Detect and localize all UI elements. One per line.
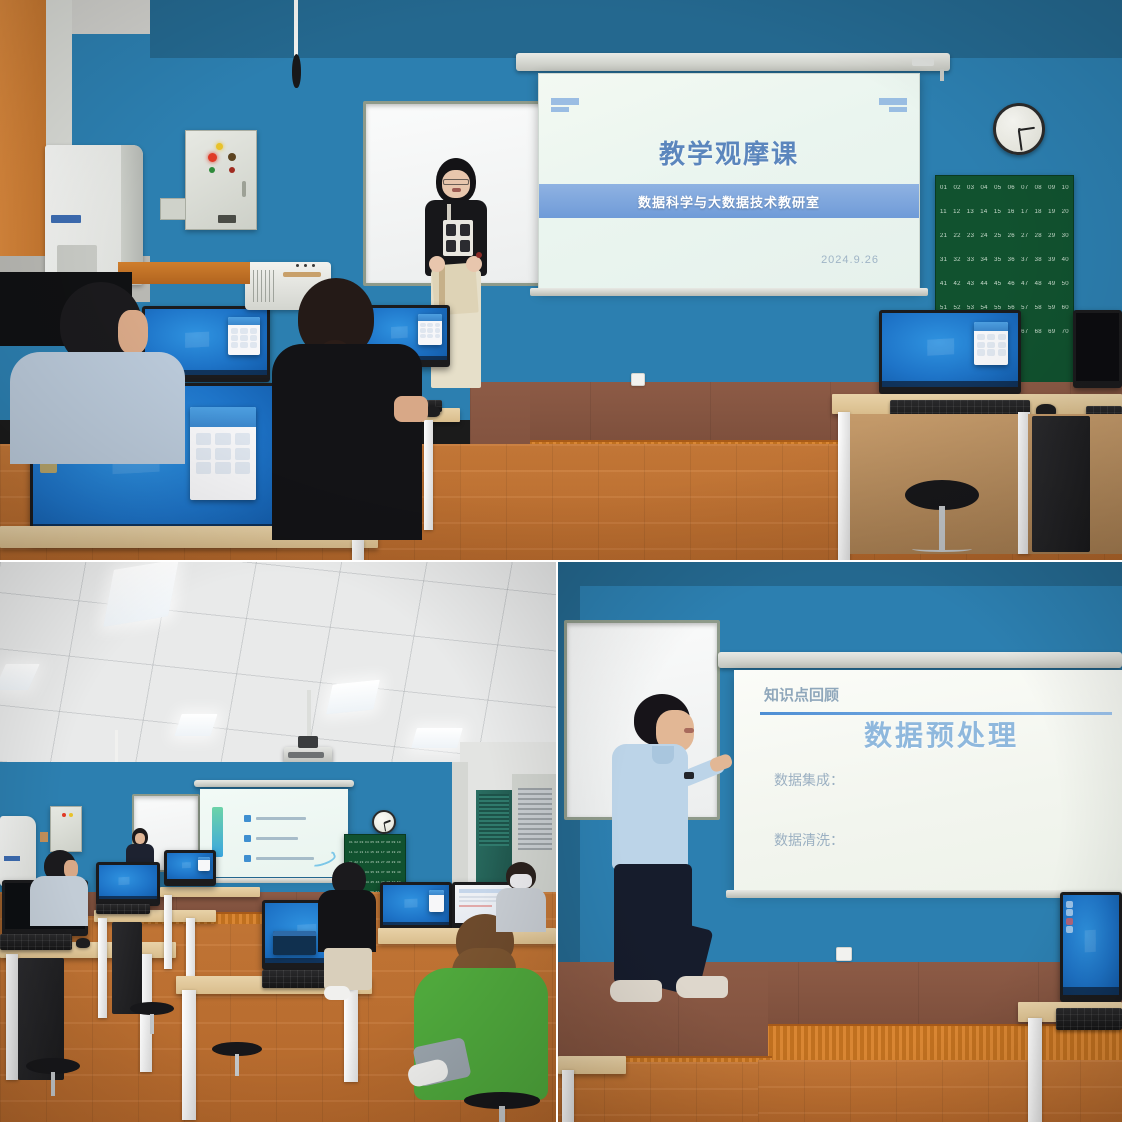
- student-masked: [496, 862, 546, 932]
- wall-socket: [631, 373, 645, 386]
- male-student: [10, 282, 185, 462]
- number-board-cell: 12: [354, 850, 358, 854]
- number-board-cell: 37: [381, 870, 385, 874]
- number-board-cell: 36: [1008, 257, 1015, 263]
- student-gray-shirt: [30, 850, 88, 922]
- number-board-row: 31323334353637383940: [936, 257, 1073, 263]
- number-board-cell: 35: [994, 257, 1001, 263]
- number-board-cell: 49: [1048, 281, 1055, 287]
- number-board-cell: 01: [940, 185, 947, 191]
- number-board-row: 01020304050607080910: [936, 185, 1073, 191]
- number-board-cell: 08: [386, 840, 390, 844]
- number-board-cell: 41: [940, 281, 947, 287]
- number-board-cell: 39: [392, 870, 396, 874]
- male-instructor: [598, 694, 728, 1004]
- ceiling-microphone: [292, 54, 301, 88]
- number-board-cell: 07: [1021, 185, 1028, 191]
- number-board-cell: 05: [994, 185, 1001, 191]
- number-board-cell: 03: [967, 185, 974, 191]
- number-board-cell: 34: [981, 257, 988, 263]
- number-board-cell: 29: [1048, 233, 1055, 239]
- number-board-cell: 26: [376, 860, 380, 864]
- keyboard[interactable]: [0, 934, 72, 950]
- slide-review-item: 数据清洗：: [774, 830, 844, 850]
- number-board-cell: 21: [940, 233, 947, 239]
- number-board-cell: 42: [954, 281, 961, 287]
- projection-slide-review: 知识点回顾 数据预处理 数据集成： 数据清洗：: [734, 670, 1122, 892]
- panel-divider-horizontal: [0, 560, 1122, 562]
- number-board-cell: 14: [980, 209, 987, 215]
- number-board-cell: 15: [994, 209, 1001, 215]
- panel-divider-vertical: [556, 562, 558, 1122]
- number-board-cell: 47: [1021, 281, 1028, 287]
- number-board-cell: 67: [1021, 329, 1028, 335]
- number-board-cell: 39: [1048, 257, 1055, 263]
- number-board-cell: 29: [392, 860, 396, 864]
- student-monitor[interactable]: [1060, 892, 1122, 1002]
- number-board-cell: 14: [365, 850, 369, 854]
- number-board-cell: 19: [392, 850, 396, 854]
- student-black-shirt: [314, 862, 376, 1002]
- photo-panel-bottom-left: 0102030405060708091011121314151617181920…: [0, 562, 556, 1122]
- number-board-cell: 68: [1035, 329, 1042, 335]
- number-board-cell: 58: [1035, 305, 1042, 311]
- number-board-cell: 17: [381, 850, 385, 854]
- number-board-cell: 23: [967, 233, 974, 239]
- number-board-cell: 31: [940, 257, 947, 263]
- number-board-cell: 12: [953, 209, 960, 215]
- number-board-cell: 43: [967, 281, 974, 287]
- number-board-cell: 07: [381, 840, 385, 844]
- number-board-cell: 36: [376, 870, 380, 874]
- number-board-cell: 38: [386, 870, 390, 874]
- number-board-cell: 17: [1021, 209, 1028, 215]
- number-board-cell: 15: [370, 850, 374, 854]
- stool[interactable]: [130, 1002, 174, 1034]
- number-board-cell: 24: [981, 233, 988, 239]
- number-board-cell: 33: [967, 257, 974, 263]
- slide-title-heading: 教学观摩课: [539, 134, 919, 171]
- number-board-cell: 45: [994, 281, 1001, 287]
- photo-collage: 教学观摩课 数据科学与大数据技术教研室 2024.9.26 0102030405…: [0, 0, 1122, 1122]
- number-board-cell: 50: [1062, 281, 1069, 287]
- photo-panel-bottom-right: 知识点回顾 数据预处理 数据集成： 数据清洗：: [558, 562, 1122, 1122]
- number-board-cell: 57: [1021, 305, 1028, 311]
- number-board-cell: 44: [981, 281, 988, 287]
- number-board-cell: 13: [360, 850, 364, 854]
- number-board-cell: 06: [1008, 185, 1015, 191]
- number-board-cell: 06: [376, 840, 380, 844]
- number-board-cell: 16: [1007, 209, 1014, 215]
- slide-department-label: 数据科学与大数据技术教研室: [638, 192, 820, 211]
- mouse[interactable]: [76, 938, 90, 948]
- slide-department-band: 数据科学与大数据技术教研室: [539, 184, 919, 218]
- teacher-monitor[interactable]: [879, 310, 1021, 394]
- number-board-cell: 13: [967, 209, 974, 215]
- number-board-cell: 22: [954, 233, 961, 239]
- ceiling-light: [326, 680, 380, 715]
- student-green-shirt: [408, 914, 548, 1122]
- projector-screen-housing: [516, 53, 950, 71]
- stool[interactable]: [26, 1058, 80, 1098]
- number-board-cell: 25: [994, 233, 1001, 239]
- number-board-cell: 37: [1021, 257, 1028, 263]
- number-board-cell: 04: [365, 840, 369, 844]
- slide-review-item: 数据集成：: [774, 770, 844, 790]
- number-board-cell: 02: [354, 840, 358, 844]
- number-board-row: 01020304050607080910: [345, 840, 405, 844]
- number-board-cell: 02: [954, 185, 961, 191]
- electrical-control-panel: [50, 806, 82, 852]
- number-board-cell: 26: [1008, 233, 1015, 239]
- number-board-cell: 18: [386, 850, 390, 854]
- number-board-cell: 05: [370, 840, 374, 844]
- projector-screen-housing: [718, 652, 1122, 668]
- number-board-row: 41424344454647484950: [936, 281, 1073, 287]
- number-board-cell: 46: [1008, 281, 1015, 287]
- wall-socket: [836, 947, 852, 961]
- side-monitor[interactable]: [1073, 310, 1122, 388]
- stool[interactable]: [905, 480, 979, 552]
- ceiling-light: [174, 714, 217, 736]
- hanging-cable: [294, 0, 298, 56]
- number-board-cell: 40: [1062, 257, 1069, 263]
- number-board-cell: 30: [397, 860, 401, 864]
- wall-clock: [372, 810, 396, 834]
- number-board-cell: 04: [981, 185, 988, 191]
- student-monitor[interactable]: [96, 862, 160, 906]
- number-board-cell: 59: [1048, 305, 1055, 311]
- number-board-cell: 38: [1035, 257, 1042, 263]
- number-board-cell: 10: [397, 840, 401, 844]
- number-board-cell: 20: [397, 850, 401, 854]
- pc-tower: [1032, 416, 1090, 552]
- number-board-cell: 27: [1021, 233, 1028, 239]
- number-board-cell: 28: [1035, 233, 1042, 239]
- number-board-cell: 20: [1062, 209, 1069, 215]
- photo-panel-top: 教学观摩课 数据科学与大数据技术教研室 2024.9.26 0102030405…: [0, 0, 1122, 560]
- slide-review-kicker: 知识点回顾: [764, 684, 839, 705]
- number-board-cell: 10: [1062, 185, 1069, 191]
- pc-tower: [112, 922, 142, 1014]
- number-board-cell: 60: [1062, 305, 1069, 311]
- keyboard[interactable]: [96, 904, 150, 914]
- keyboard[interactable]: [1056, 1008, 1122, 1030]
- number-board-cell: 46: [376, 880, 380, 884]
- number-board-cell: 11: [349, 850, 353, 854]
- projection-slide-title: 教学观摩课 数据科学与大数据技术教研室 2024.9.26: [538, 73, 920, 291]
- number-board-cell: 28: [386, 860, 390, 864]
- number-board-cell: 01: [349, 840, 353, 844]
- number-board-cell: 48: [1035, 281, 1042, 287]
- number-board-cell: 09: [392, 840, 396, 844]
- electrical-control-panel: [185, 130, 257, 230]
- number-board-cell: 40: [397, 870, 401, 874]
- number-board-cell: 69: [1048, 329, 1055, 335]
- number-board-cell: 30: [1062, 233, 1069, 239]
- wall-clock: [993, 103, 1045, 155]
- student-monitor[interactable]: [164, 850, 216, 886]
- stool[interactable]: [212, 1042, 262, 1078]
- number-board-cell: 18: [1035, 209, 1042, 215]
- number-board-cell: 19: [1048, 209, 1055, 215]
- number-board-cell: 32: [954, 257, 961, 263]
- number-board-cell: 08: [1035, 185, 1042, 191]
- number-board-row: 11121314151617181920: [345, 850, 405, 854]
- number-board-cell: 70: [1062, 329, 1069, 335]
- ceiling-light: [411, 728, 463, 748]
- number-board-cell: 11: [940, 209, 947, 215]
- number-board-row: 21222324252627282930: [936, 233, 1073, 239]
- number-board-cell: 27: [381, 860, 385, 864]
- student-desk: [160, 887, 260, 897]
- number-board-cell: 03: [360, 840, 364, 844]
- number-board-row: 11121314151617181920: [936, 209, 1073, 215]
- slide-date: 2024.9.26: [821, 254, 879, 266]
- number-board-cell: 16: [376, 850, 380, 854]
- slide-review-heading: 数据预处理: [864, 714, 1019, 754]
- female-student: [266, 278, 426, 538]
- number-board-cell: 09: [1048, 185, 1055, 191]
